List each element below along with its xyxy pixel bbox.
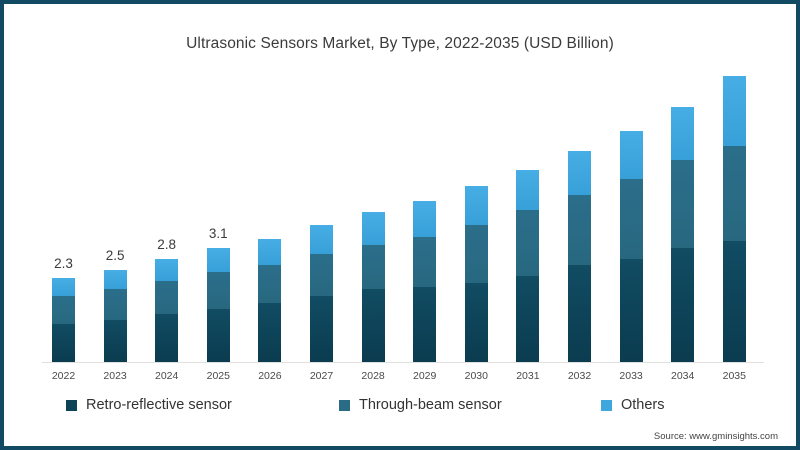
bar-segment-retro-reflective-sensor[interactable] (52, 324, 75, 363)
chart-page: Ultrasonic Sensors Market, By Type, 2022… (0, 0, 800, 450)
bar-2035[interactable] (723, 76, 746, 362)
bar-2023[interactable] (104, 270, 127, 362)
bar-segment-retro-reflective-sensor[interactable] (155, 314, 178, 362)
bar-2028[interactable] (362, 212, 385, 362)
bar-segment-through-beam-sensor[interactable] (104, 289, 127, 320)
bar-segment-others[interactable] (104, 270, 127, 288)
bar-segment-others[interactable] (310, 225, 333, 254)
bar-2031[interactable] (516, 170, 539, 363)
bar-segment-retro-reflective-sensor[interactable] (671, 248, 694, 362)
bar-segment-through-beam-sensor[interactable] (258, 265, 281, 304)
bar-2030[interactable] (465, 186, 488, 362)
bar-segment-others[interactable] (413, 201, 436, 238)
source-attribution: Source: www.gminsights.com (654, 431, 778, 442)
data-label-2025: 3.1 (188, 226, 248, 241)
bar-segment-others[interactable] (723, 76, 746, 146)
bar-2032[interactable] (568, 151, 591, 362)
bar-segment-through-beam-sensor[interactable] (362, 245, 385, 289)
legend-label: Others (621, 397, 665, 413)
bar-segment-retro-reflective-sensor[interactable] (258, 303, 281, 362)
bar-segment-through-beam-sensor[interactable] (155, 281, 178, 314)
bar-2029[interactable] (413, 201, 436, 362)
bar-segment-through-beam-sensor[interactable] (310, 254, 333, 296)
bar-segment-through-beam-sensor[interactable] (516, 210, 539, 276)
stacked-bar-chart: 2.32.52.83.1 202220232024202520262027202… (4, 4, 800, 450)
bar-segment-retro-reflective-sensor[interactable] (207, 309, 230, 362)
bar-segment-retro-reflective-sensor[interactable] (310, 296, 333, 362)
legend-item-through-beam-sensor[interactable]: Through-beam sensor (339, 397, 502, 413)
bar-segment-others[interactable] (465, 186, 488, 225)
bar-segment-others[interactable] (52, 278, 75, 296)
bar-segment-others[interactable] (620, 131, 643, 179)
bar-segment-retro-reflective-sensor[interactable] (516, 276, 539, 362)
legend-swatch-icon (339, 400, 350, 411)
bar-segment-through-beam-sensor[interactable] (671, 160, 694, 248)
bar-segment-others[interactable] (258, 239, 281, 265)
bar-segment-others[interactable] (516, 170, 539, 210)
legend-label: Retro-reflective sensor (86, 397, 232, 413)
bar-2024[interactable] (155, 259, 178, 362)
bar-2025[interactable] (207, 248, 230, 362)
x-tick-2035: 2035 (704, 370, 764, 382)
bar-2033[interactable] (620, 131, 643, 362)
legend-label: Through-beam sensor (359, 397, 502, 413)
bar-segment-through-beam-sensor[interactable] (620, 179, 643, 260)
legend-swatch-icon (66, 400, 77, 411)
bar-segment-through-beam-sensor[interactable] (465, 225, 488, 284)
bar-segment-retro-reflective-sensor[interactable] (620, 259, 643, 362)
bar-segment-through-beam-sensor[interactable] (568, 195, 591, 265)
legend-item-retro-reflective-sensor[interactable]: Retro-reflective sensor (66, 397, 232, 413)
bar-segment-others[interactable] (155, 259, 178, 281)
bar-segment-retro-reflective-sensor[interactable] (104, 320, 127, 362)
bar-segment-retro-reflective-sensor[interactable] (723, 241, 746, 362)
x-axis-line (42, 362, 764, 363)
bar-segment-through-beam-sensor[interactable] (723, 146, 746, 241)
bar-2027[interactable] (310, 225, 333, 363)
bar-segment-through-beam-sensor[interactable] (52, 296, 75, 324)
bar-segment-others[interactable] (362, 212, 385, 245)
bar-segment-through-beam-sensor[interactable] (207, 272, 230, 309)
legend-swatch-icon (601, 400, 612, 411)
bar-segment-retro-reflective-sensor[interactable] (568, 265, 591, 362)
chart-legend: Retro-reflective sensorThrough-beam sens… (4, 397, 800, 421)
bar-2022[interactable] (52, 278, 75, 362)
legend-item-others[interactable]: Others (601, 397, 665, 413)
bar-segment-retro-reflective-sensor[interactable] (465, 283, 488, 362)
bar-segment-retro-reflective-sensor[interactable] (362, 289, 385, 362)
bar-segment-others[interactable] (671, 107, 694, 160)
bar-segment-retro-reflective-sensor[interactable] (413, 287, 436, 362)
bar-2034[interactable] (671, 107, 694, 362)
bar-2026[interactable] (258, 239, 281, 362)
bar-segment-others[interactable] (207, 248, 230, 272)
bar-segment-others[interactable] (568, 151, 591, 195)
bar-segment-through-beam-sensor[interactable] (413, 237, 436, 287)
